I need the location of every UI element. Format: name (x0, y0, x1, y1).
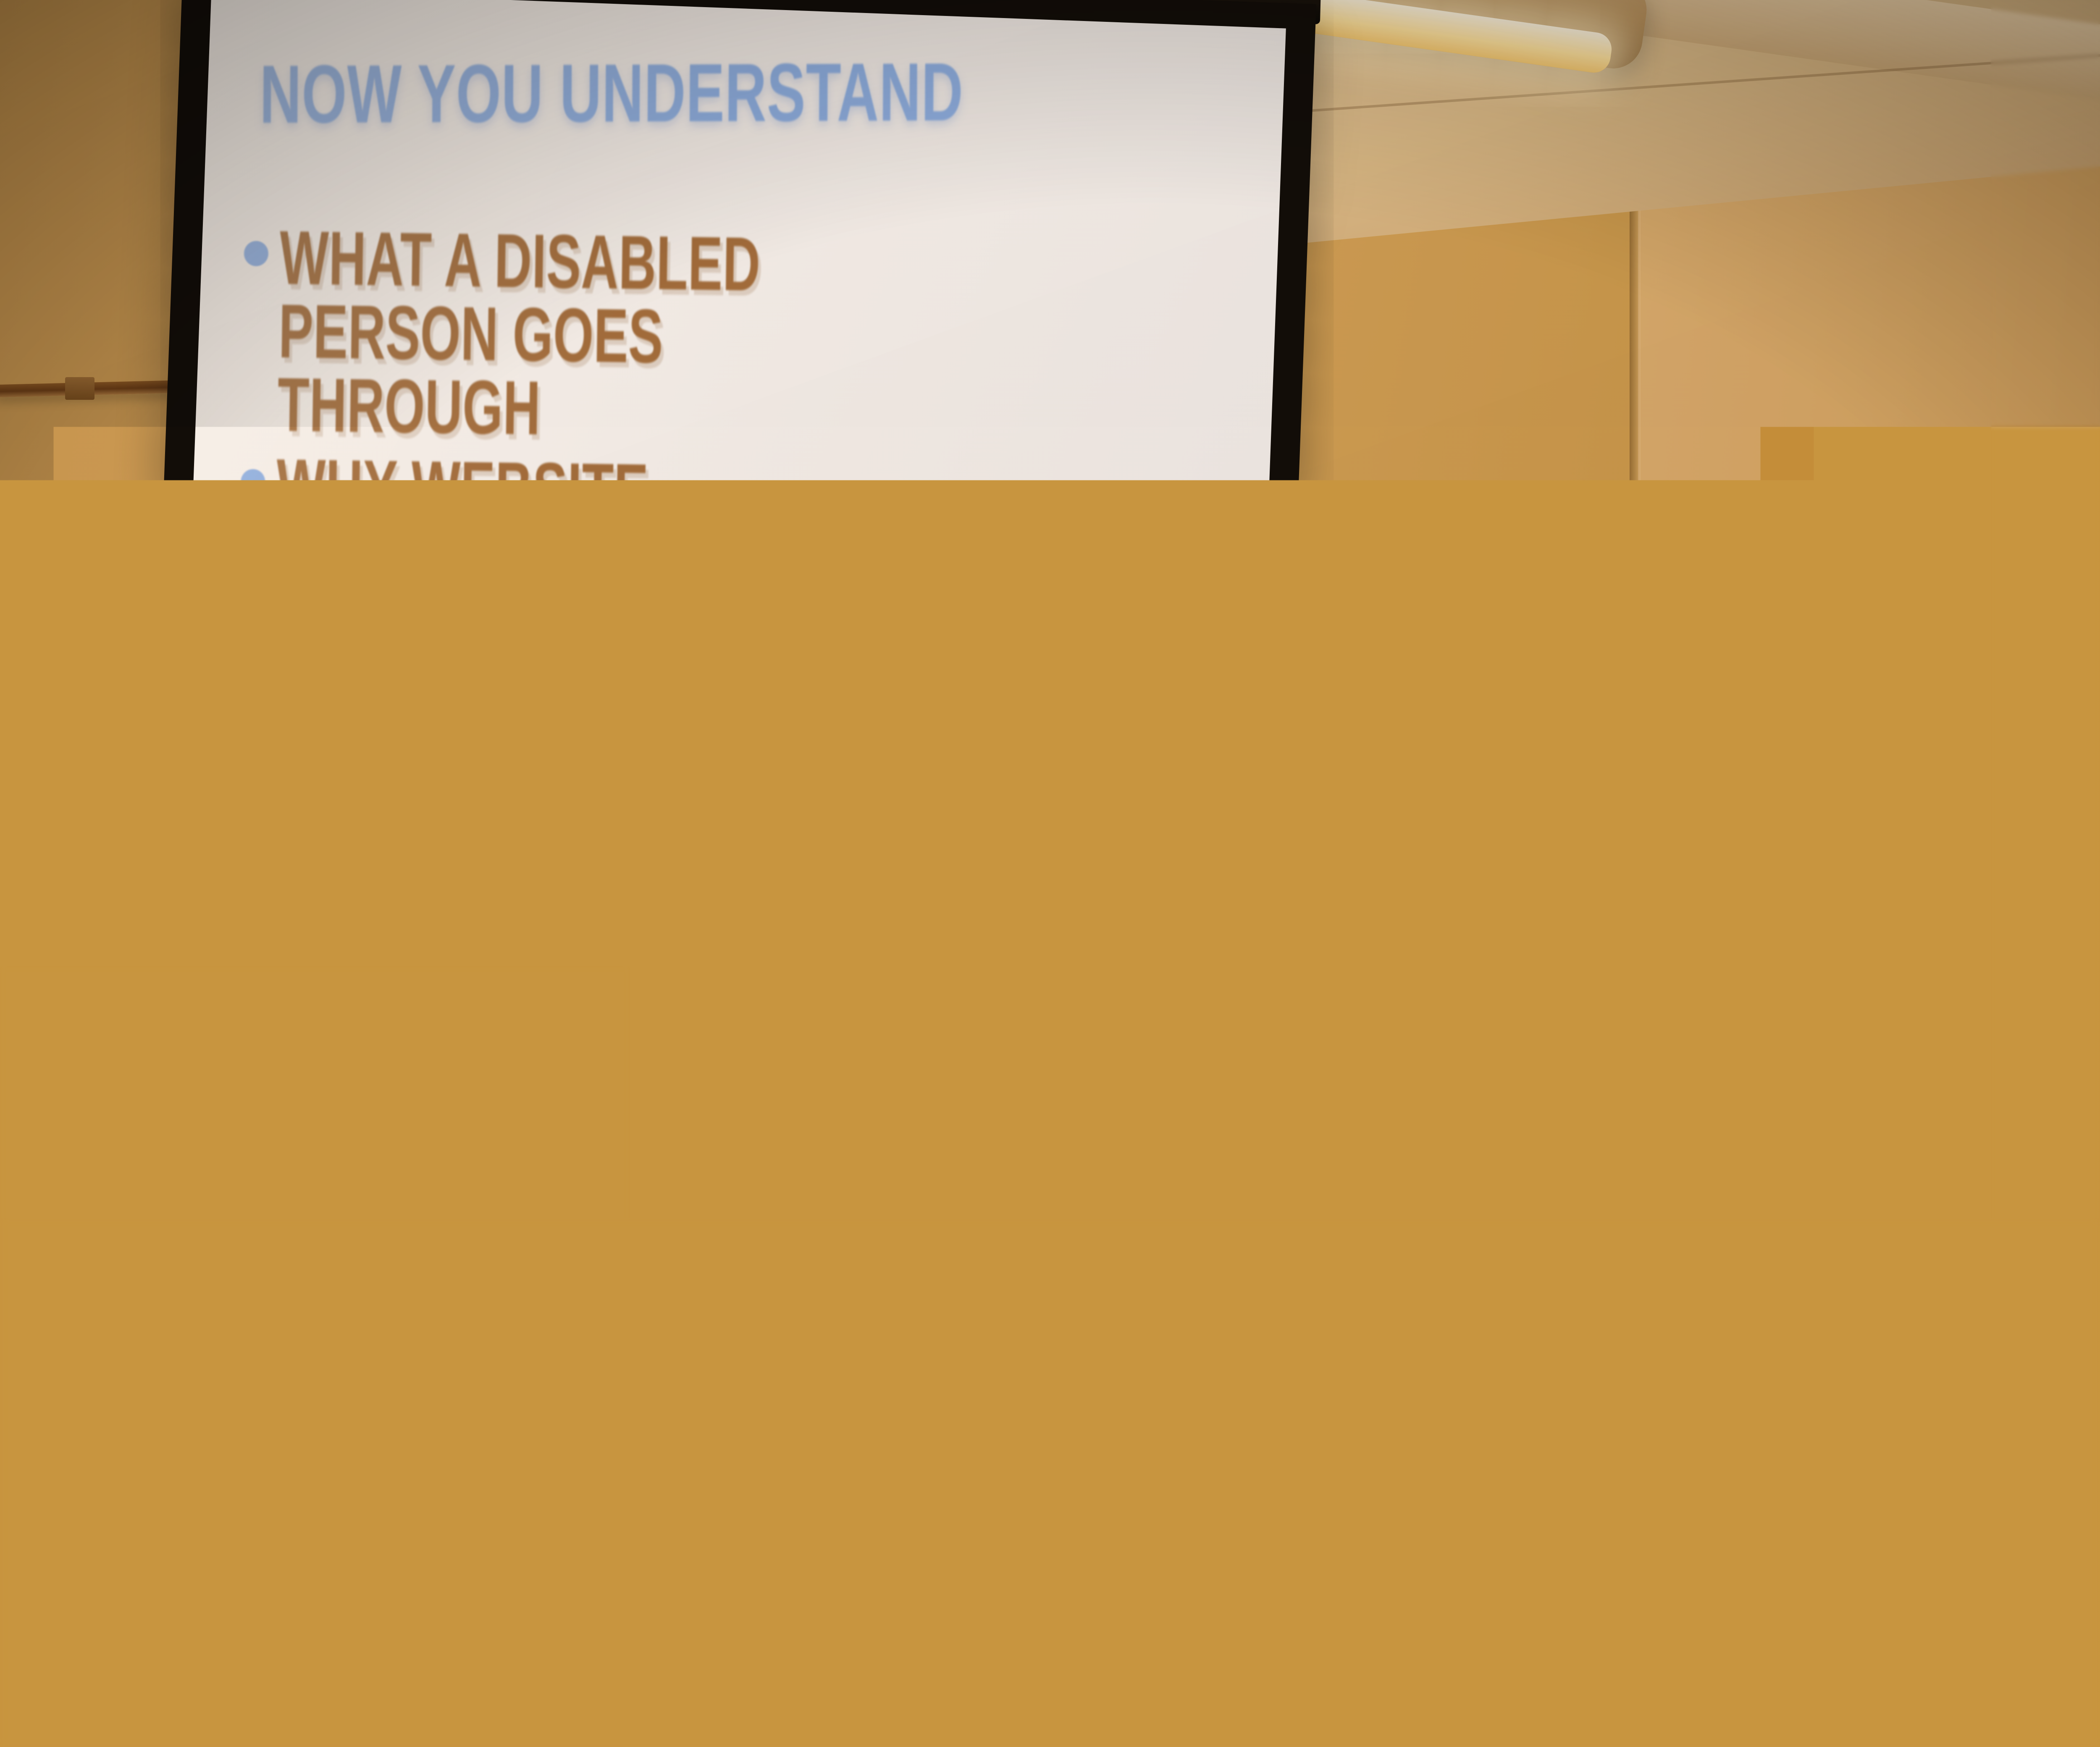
water-bottle (575, 1514, 680, 1747)
bullet-text: WHAT A DISABLED PERSON GOES THROUGH (277, 221, 930, 451)
wall-corner (1630, 88, 1641, 1747)
laptop-display (1487, 1230, 1663, 1419)
slide-title: NOW YOU UNDERSTAND (260, 45, 963, 142)
audience-body-dark (606, 1393, 1208, 1747)
bottle-neck (604, 1545, 647, 1621)
chair-rail-bracket (65, 377, 94, 400)
badge-text-line (1171, 1094, 1221, 1114)
bottle-label (586, 1613, 673, 1747)
jeans-tag (1112, 1289, 1133, 1309)
screen-pull-strap[interactable] (638, 976, 671, 1115)
bullet-text: WHY WEBSITE ACCESSIBILITY IS SO IMPORTAN… (274, 449, 927, 679)
chair (1528, 1626, 1908, 1747)
electrical-outlet-icon (452, 1309, 496, 1374)
chair (1888, 1558, 2100, 1747)
polo-button (1154, 966, 1164, 976)
list-item: WHAT A DISABLED PERSON GOES THROUGH (241, 221, 1236, 455)
laptop-device[interactable] (1474, 1215, 1676, 1435)
list-item: WHY WEBSITE ACCESSIBILITY IS SO IMPORTAN… (238, 449, 1232, 683)
bullet-dot-icon (244, 241, 269, 266)
laptop-titlebar (1487, 1230, 1655, 1268)
classroom-photo: NOW YOU UNDERSTAND WHAT A DISABLED PERSO… (0, 0, 2100, 1747)
paper-sheet (439, 1616, 603, 1698)
jeans-red-tab (1133, 1295, 1157, 1321)
bullet-dot-icon (241, 469, 265, 495)
badge-seal-icon (1179, 1111, 1221, 1149)
